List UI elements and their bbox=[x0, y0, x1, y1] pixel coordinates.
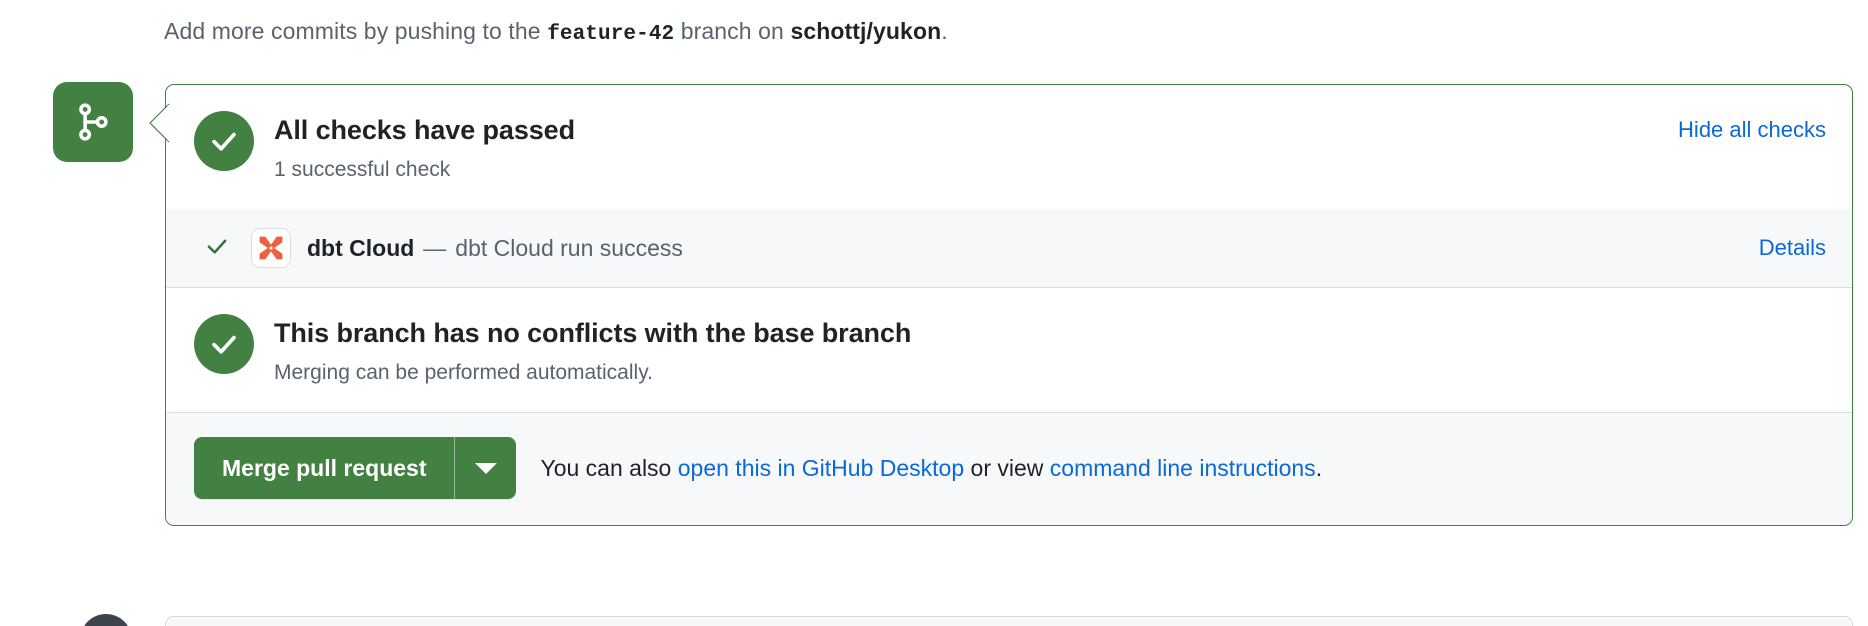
dbt-cloud-icon bbox=[251, 228, 291, 268]
git-merge-badge bbox=[53, 82, 133, 162]
merge-pull-request-button[interactable]: Merge pull request bbox=[194, 437, 454, 499]
note-middle: or view bbox=[971, 455, 1044, 481]
merge-options-dropdown-button[interactable] bbox=[454, 437, 516, 499]
next-timeline-item-header bbox=[167, 618, 1851, 626]
merge-box: All checks have passed 1 successful chec… bbox=[165, 84, 1853, 526]
repository-name: schottj/yukon bbox=[790, 18, 941, 44]
notice-prefix: Add more commits by pushing to the bbox=[164, 18, 541, 44]
hide-all-checks-link[interactable]: Hide all checks bbox=[1678, 117, 1826, 143]
check-run-name: dbt Cloud bbox=[307, 235, 414, 262]
avatar bbox=[80, 614, 132, 626]
merge-button-group: Merge pull request bbox=[194, 437, 516, 499]
checks-summary-section: All checks have passed 1 successful chec… bbox=[166, 85, 1852, 209]
notice-suffix: . bbox=[941, 18, 948, 44]
branch-name: feature-42 bbox=[547, 23, 674, 46]
conflicts-subtitle: Merging can be performed automatically. bbox=[274, 359, 911, 386]
git-merge-icon bbox=[72, 101, 114, 143]
github-desktop-link[interactable]: open this in GitHub Desktop bbox=[678, 455, 964, 481]
checks-summary-title: All checks have passed bbox=[274, 114, 575, 148]
check-run-description: dbt Cloud run success bbox=[455, 235, 683, 262]
check-circle-icon bbox=[194, 314, 254, 374]
conflicts-title: This branch has no conflicts with the ba… bbox=[274, 317, 911, 351]
push-more-commits-notice: Add more commits by pushing to the featu… bbox=[164, 14, 948, 52]
checks-summary-subtitle: 1 successful check bbox=[274, 156, 575, 183]
notice-middle: branch on bbox=[681, 18, 784, 44]
next-timeline-item bbox=[165, 616, 1853, 626]
note-suffix: . bbox=[1316, 455, 1322, 481]
check-icon bbox=[203, 232, 231, 265]
merge-actions-footer: Merge pull request You can also open thi… bbox=[166, 413, 1852, 525]
pull-request-merge-panel: Add more commits by pushing to the featu… bbox=[0, 0, 1868, 626]
note-prefix: You can also bbox=[540, 455, 671, 481]
command-line-instructions-link[interactable]: command line instructions bbox=[1050, 455, 1316, 481]
merge-alternatives-note: You can also open this in GitHub Desktop… bbox=[540, 455, 1322, 482]
callout-arrow bbox=[148, 103, 170, 143]
check-circle-icon bbox=[194, 111, 254, 171]
check-run-row[interactable]: dbt Cloud — dbt Cloud run success Detail… bbox=[166, 209, 1852, 288]
conflicts-section: This branch has no conflicts with the ba… bbox=[166, 288, 1852, 413]
chevron-down-icon bbox=[475, 463, 497, 474]
check-run-dash: — bbox=[423, 235, 446, 262]
check-run-details-link[interactable]: Details bbox=[1759, 235, 1826, 261]
